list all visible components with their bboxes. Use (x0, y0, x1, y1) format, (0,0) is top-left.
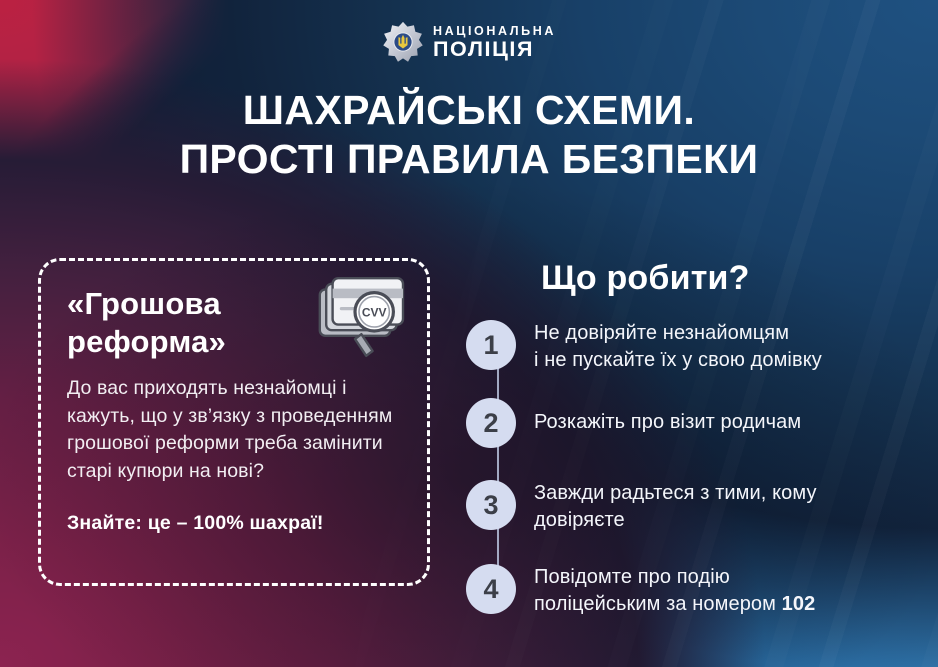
police-star-badge-icon (382, 21, 424, 63)
page-title-line1: ШАХРАЙСЬКІ СХЕМИ. (0, 86, 938, 135)
credit-card-magnifier-cvv-icon: CVV (315, 275, 411, 367)
list-item: 3 Завжди радьтеся з тими, кому довіряєте (466, 480, 918, 542)
step-number-badge: 3 (466, 480, 516, 530)
what-to-do-heading: Що робити? (541, 258, 918, 298)
step-text-line2: поліцейським за номером (534, 593, 782, 615)
brand-logo-text: НАЦІОНАЛЬНА ПОЛІЦІЯ (433, 24, 556, 61)
step-text: Завжди радьтеся з тими, кому довіряєте (534, 480, 817, 533)
what-to-do-section: Що робити? 1 Не довіряйте незнайомцям і … (466, 258, 918, 626)
step-text: Не довіряйте незнайомцям і не пускайте ї… (534, 320, 822, 373)
scheme-card-warning: Знайте: це – 100% шахраї! (67, 511, 401, 536)
step-text-line1: Завжди радьтеся з тими, кому (534, 482, 817, 504)
step-text-line1: Не довіряйте незнайомцям (534, 322, 789, 344)
cvv-icon-label: CVV (362, 306, 387, 320)
step-text-line1: Повідомте про подію (534, 566, 730, 588)
step-number-badge: 4 (466, 564, 516, 614)
list-item: 4 Повідомте про подію поліцейським за но… (466, 564, 918, 626)
brand-logo: НАЦІОНАЛЬНА ПОЛІЦІЯ (0, 21, 938, 63)
scheme-card: CVV «Грошова реформа» До вас приходять н… (38, 258, 430, 586)
step-number-badge: 1 (466, 320, 516, 370)
emergency-number: 102 (782, 593, 816, 615)
step-text: Розкажіть про візит родичам (534, 398, 801, 436)
page-title-line2: ПРОСТІ ПРАВИЛА БЕЗПЕКИ (0, 135, 938, 184)
step-text: Повідомте про подію поліцейським за номе… (534, 564, 815, 617)
step-text-line2: і не пускайте їх у свою домівку (534, 349, 822, 371)
list-item: 1 Не довіряйте незнайомцям і не пускайте… (466, 320, 918, 382)
steps-list: 1 Не довіряйте незнайомцям і не пускайте… (466, 320, 918, 626)
step-text-line2: довіряєте (534, 509, 625, 531)
step-number-badge: 2 (466, 398, 516, 448)
list-item: 2 Розкажіть про візит родичам (466, 398, 918, 460)
scheme-card-title: «Грошова реформа» (67, 285, 317, 361)
infographic-poster: НАЦІОНАЛЬНА ПОЛІЦІЯ ШАХРАЙСЬКІ СХЕМИ. ПР… (0, 0, 938, 667)
brand-logo-line1: НАЦІОНАЛЬНА (433, 24, 556, 38)
scheme-card-body: До вас приходять незнайомці і кажуть, що… (67, 375, 401, 485)
brand-logo-line2: ПОЛІЦІЯ (433, 38, 556, 61)
page-title: ШАХРАЙСЬКІ СХЕМИ. ПРОСТІ ПРАВИЛА БЕЗПЕКИ (0, 86, 938, 184)
